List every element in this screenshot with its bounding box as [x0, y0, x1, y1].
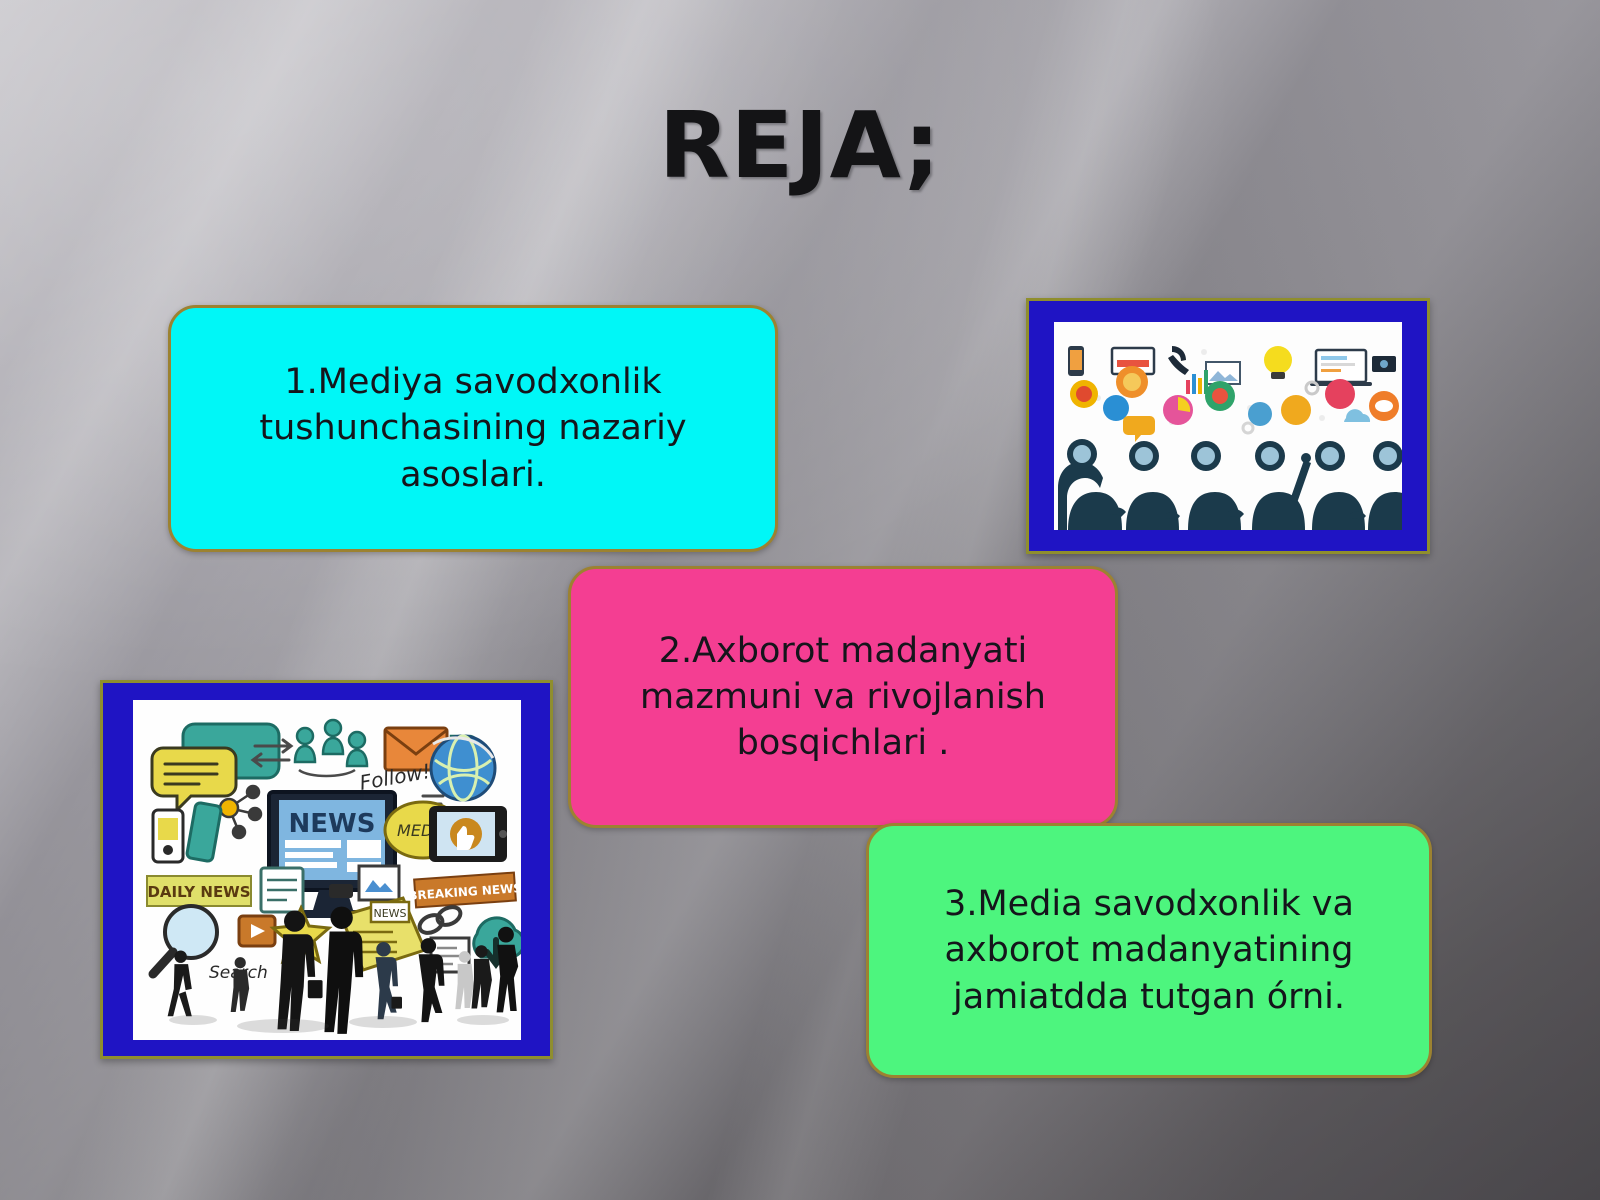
image-bottom-left: Follow! NEWS	[133, 700, 521, 1040]
daily-news-label: DAILY NEWS	[147, 883, 250, 901]
agenda-item-1-label: 1.Mediya savodxonlik tushunchasining naz…	[197, 359, 749, 498]
page-title: REJA;	[0, 92, 1600, 199]
image-top-right	[1054, 322, 1402, 530]
news-small-label: NEWS	[373, 907, 406, 920]
news-label: NEWS	[288, 809, 375, 839]
agenda-item-2[interactable]: 2.Axborot madanyati mazmuni va rivojlani…	[568, 566, 1118, 828]
agenda-item-1[interactable]: 1.Mediya savodxonlik tushunchasining naz…	[168, 305, 778, 552]
agenda-item-3[interactable]: 3.Media savodxonlik va axborot madanyati…	[866, 823, 1432, 1078]
image-bottom-left-frame: Follow! NEWS	[100, 680, 553, 1059]
agenda-item-2-label: 2.Axborot madanyati mazmuni va rivojlani…	[597, 628, 1089, 767]
agenda-item-3-label: 3.Media savodxonlik va axborot madanyati…	[895, 881, 1403, 1020]
media-crowd-illustration	[1054, 322, 1402, 530]
media-doodles-illustration: Follow! NEWS	[133, 700, 521, 1040]
image-top-right-frame	[1026, 298, 1430, 554]
